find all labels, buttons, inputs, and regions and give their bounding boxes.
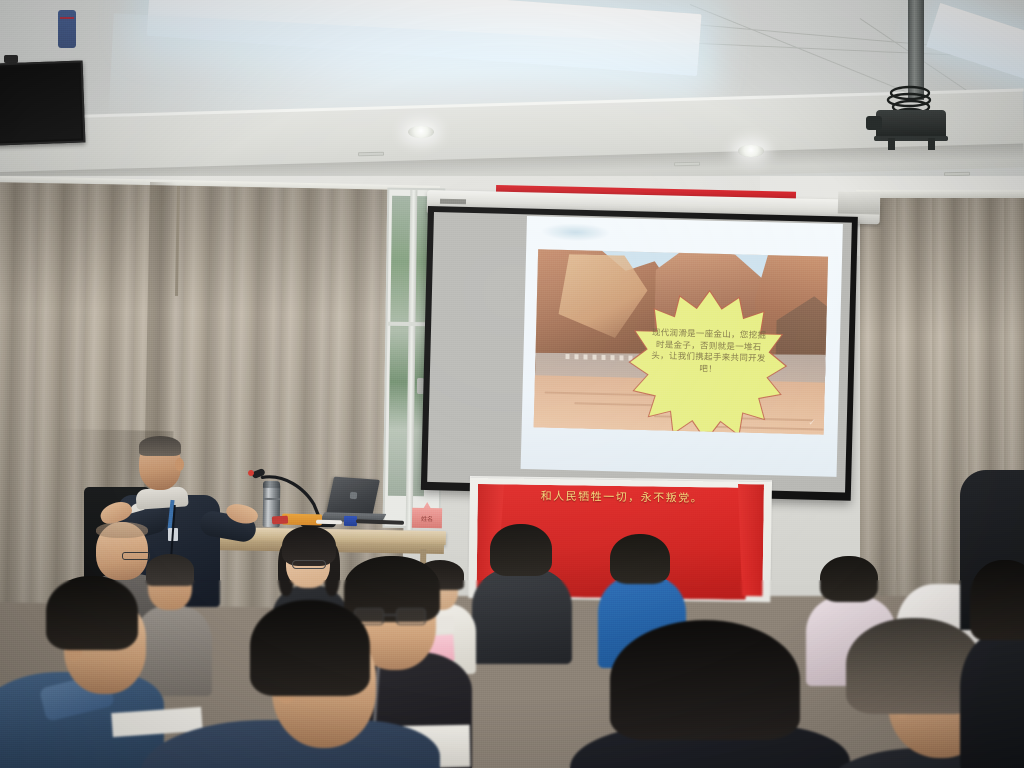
monitor-screen [0, 65, 81, 142]
photo-scene: 现代润滑是一座金山，您挖掘时是金子，否则就是一堆石头，让我们携起手来共同开发吧！… [0, 0, 1024, 768]
name-placard-text: 姓名 [414, 514, 440, 523]
microphone-indicator-light [248, 470, 254, 476]
projection-artifact [540, 222, 610, 242]
monitor-badge-stripe [60, 17, 74, 19]
glasses-icon [354, 608, 426, 626]
red-item-on-table[interactable] [272, 516, 288, 525]
attendee-hair [146, 554, 194, 586]
downlight-icon [738, 145, 764, 157]
curtain-rod-right [856, 190, 1024, 198]
attendee-torso [472, 568, 572, 664]
glasses-icon [122, 552, 150, 560]
attendee-hair [250, 600, 370, 696]
wall-mounted-monitor[interactable] [0, 60, 85, 145]
monitor-badge-icon [58, 10, 76, 48]
glasses-lens-right [396, 608, 426, 625]
projector-lens-icon [866, 116, 882, 130]
laptop-logo-icon [350, 492, 357, 499]
speaker-ear [175, 458, 184, 471]
window-mullion-horizontal [388, 322, 428, 327]
white-pen[interactable] [316, 520, 342, 524]
attendee-hair [610, 534, 670, 584]
downlight-icon [408, 126, 434, 138]
monitor-mount [4, 55, 18, 63]
ceiling-vent-icon [358, 152, 384, 156]
projected-slide: 现代润滑是一座金山，您挖掘时是金子，否则就是一堆石头，让我们携起手来共同开发吧！… [521, 216, 843, 477]
backdrop-slogan-text: 和人民牺牲一切，永不叛党。 [500, 487, 744, 506]
attendee-hair [96, 522, 148, 538]
slide-photo-canyon: 现代润滑是一座金山，您挖掘时是金子，否则就是一堆石头，让我们携起手来共同开发吧！… [534, 249, 828, 434]
projector-mount-plate [874, 136, 948, 141]
attendee-hair [970, 560, 1024, 640]
slide-corner-mark: ✓ [808, 417, 816, 428]
attendee-hair [610, 620, 800, 740]
starburst-callout-text: 现代润滑是一座金山，您挖掘时是金子，否则就是一堆石头，让我们携起手来共同开发吧！ [648, 328, 769, 378]
attendee-hair [490, 524, 552, 576]
ceiling-vent-icon [674, 162, 700, 166]
attendee-hair [820, 556, 878, 602]
projector-foot [928, 138, 935, 150]
attendee-hair [46, 576, 138, 650]
screen-brand-label [440, 199, 466, 205]
projector-foot [888, 138, 895, 150]
attendee-torso [960, 632, 1024, 768]
glasses-icon [292, 560, 326, 569]
glasses-bridge [384, 614, 396, 616]
speaker-hair [139, 436, 181, 456]
screen-housing-end-cap [838, 192, 880, 215]
